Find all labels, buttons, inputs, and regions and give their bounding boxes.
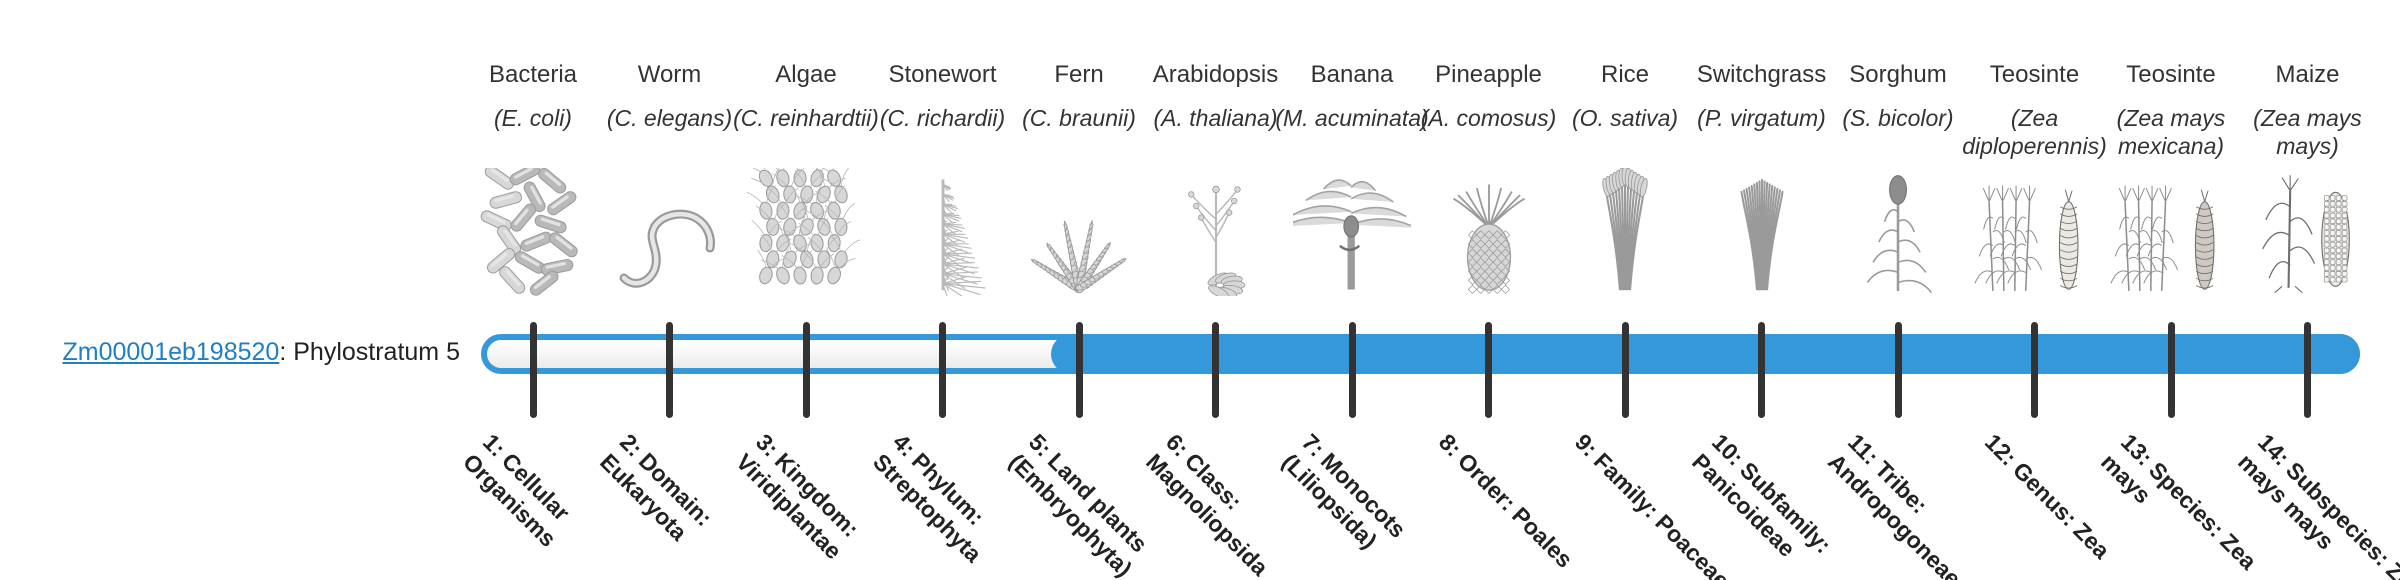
tick-mark [803, 322, 810, 418]
tick-mark [939, 322, 946, 418]
tick-mark [1758, 322, 1765, 418]
tick-mark [2168, 322, 2175, 418]
species-common-name: Maize [2224, 60, 2392, 89]
tick-mark [666, 322, 673, 418]
progress-bar-fill [1051, 334, 2360, 374]
tick-mark [1485, 322, 1492, 418]
tick-mark [1349, 322, 1356, 418]
tick-mark [1212, 322, 1219, 418]
tick-mark [1895, 322, 1902, 418]
maize-icon [2224, 168, 2392, 296]
tick-mark [1076, 322, 1083, 418]
phylostratum-timeline-figure: Zm00001eb198520: Phylostratum 5 Bacteria… [0, 0, 2400, 580]
tick-mark [530, 322, 537, 418]
tick-mark [2031, 322, 2038, 418]
phylostratum-progress-bar[interactable] [481, 334, 2360, 374]
tick-mark [2304, 322, 2311, 418]
tick-mark [1622, 322, 1629, 418]
species-scientific-name: (Zea mays mays) [2224, 104, 2392, 160]
